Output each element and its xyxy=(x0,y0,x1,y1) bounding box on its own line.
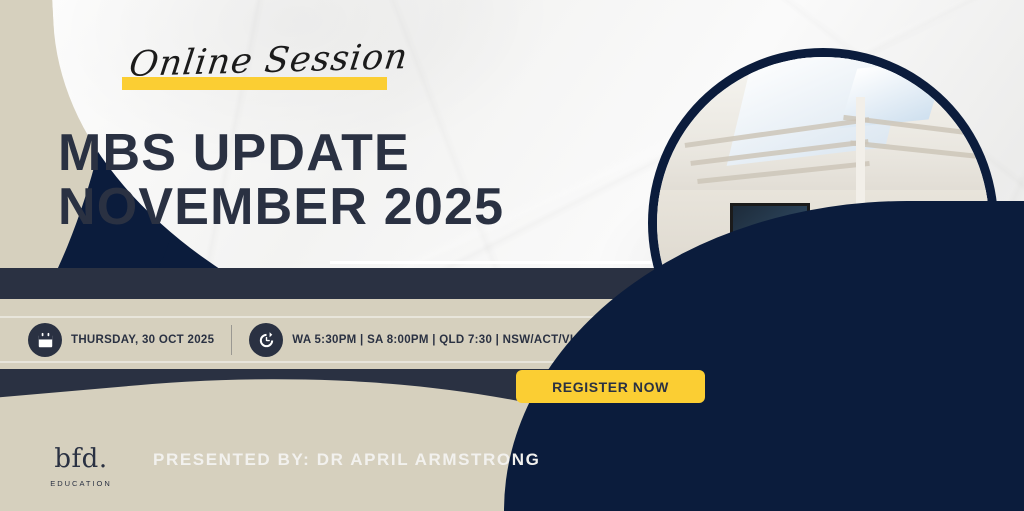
page-title: MBS UPDATE NOVEMBER 2025 xyxy=(58,126,678,234)
headline-line-1: MBS UPDATE xyxy=(58,124,410,182)
headline-line-2: NOVEMBER 2025 xyxy=(58,180,678,234)
event-date: THURSDAY, 30 OCT 2025 xyxy=(71,334,214,346)
clock-icon xyxy=(249,323,283,357)
calendar-icon xyxy=(28,323,62,357)
presenter-credit: PRESENTED BY: DR APRIL ARMSTRONG xyxy=(153,450,540,470)
logo: bfd. EDUCATION xyxy=(45,422,117,511)
eyebrow-label: Online Session xyxy=(127,37,411,85)
logo-wordmark: bfd. xyxy=(54,446,107,472)
info-separator xyxy=(231,325,232,355)
register-now-button[interactable]: REGISTER NOW xyxy=(516,370,705,403)
logo-subtitle: EDUCATION xyxy=(50,479,112,488)
eyebrow: Online Session xyxy=(130,41,407,81)
promo-banner: Online Session MBS UPDATE NOVEMBER 2025 … xyxy=(0,0,1024,511)
